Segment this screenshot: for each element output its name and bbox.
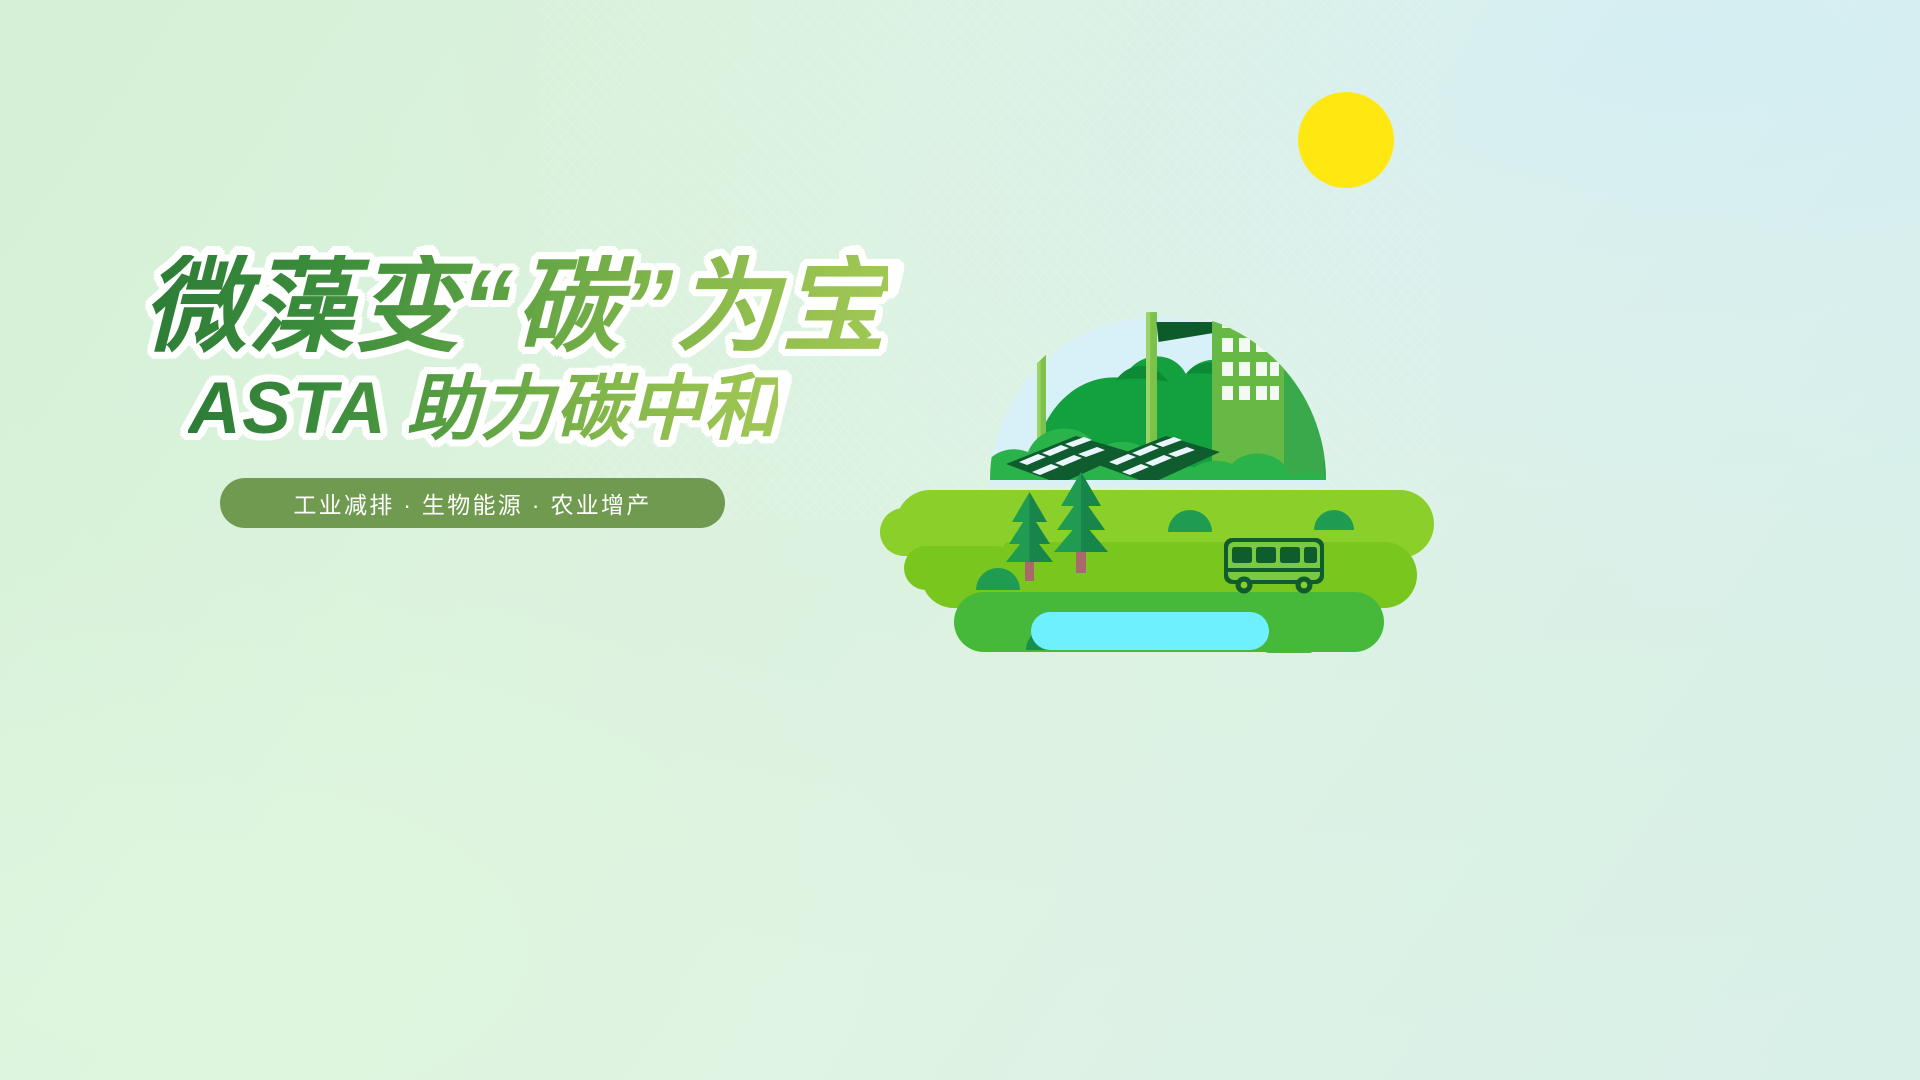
hero-copy: 微藻变“碳”为宝 微藻变“碳”为宝 ASTA 助力碳中和 ASTA 助力碳中和 … <box>0 0 860 1080</box>
office-building-mid <box>1280 262 1324 496</box>
hero-title-line2: ASTA 助力碳中和 <box>188 372 778 445</box>
eco-city-illustration <box>880 60 1500 660</box>
office-building-tall <box>1320 216 1378 496</box>
tagline-badge: 工业减排 · 生物能源 · 农业增产 <box>220 478 725 528</box>
tagline-badge-label: 工业减排 · 生物能源 · 农业增产 <box>293 486 651 520</box>
hero-title-line1: 微藻变“碳”为宝 <box>143 255 888 359</box>
banner-canvas: 微藻变“碳”为宝 微藻变“碳”为宝 ASTA 助力碳中和 ASTA 助力碳中和 … <box>0 0 1920 1080</box>
sun-icon <box>1298 92 1394 188</box>
lake <box>1031 612 1340 653</box>
